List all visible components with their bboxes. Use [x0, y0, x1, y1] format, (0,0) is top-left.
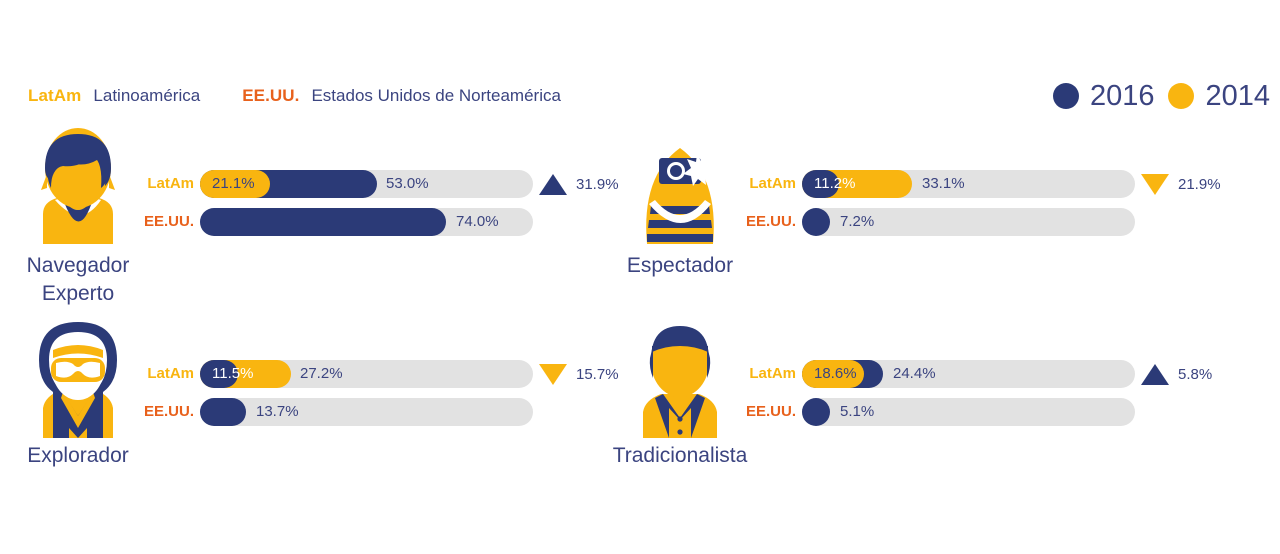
bar-row-key-usa: EE.UU. — [738, 398, 796, 426]
bar-label-2016: 11.2% — [814, 170, 855, 198]
bar-label-2016: 74.0% — [456, 208, 499, 236]
bar-track: 21.1% 53.0% — [200, 170, 533, 198]
persona-name: Tradicionalista — [602, 442, 758, 470]
bar-row-key-latam: LatAm — [136, 170, 194, 198]
tradicionalista-icon — [625, 316, 735, 438]
bar-track: 7.2% — [802, 208, 1135, 236]
bar-row-key-usa: EE.UU. — [136, 208, 194, 236]
circle-navy-icon — [1053, 83, 1079, 109]
delta-value: 5.8% — [1178, 366, 1212, 383]
triangle-down-icon — [539, 364, 567, 385]
bar-label-2014: 18.6% — [814, 360, 857, 388]
bar-row-key-latam: LatAm — [738, 170, 796, 198]
bar-track: 74.0% — [200, 208, 533, 236]
bar-row-key-usa: EE.UU. — [136, 398, 194, 426]
delta-value: 15.7% — [576, 366, 619, 383]
bar-track: 11.5% 27.2% — [200, 360, 533, 388]
legend-year-2014: 2014 — [1168, 82, 1270, 111]
delta-indicator: 15.7% — [539, 360, 619, 388]
bar-track: 18.6% 24.4% — [802, 360, 1135, 388]
delta-value: 21.9% — [1178, 176, 1221, 193]
bar-label-2016: 13.7% — [256, 398, 299, 426]
circle-gold-icon — [1168, 83, 1194, 109]
bar-track: 13.7% — [200, 398, 533, 426]
legend-regions: LatAm Latinoamérica EE.UU. Estados Unido… — [14, 72, 561, 120]
legend-key-usa: EE.UU. — [242, 86, 299, 106]
legend-key-latam: LatAm — [28, 86, 81, 106]
bar-label-2014: 21.1% — [212, 170, 255, 198]
legend-value-usa: Estados Unidos de Norteamérica — [311, 86, 560, 106]
explorador-icon — [23, 316, 133, 438]
bar-fill-2016 — [200, 398, 246, 426]
bar-track: 5.1% — [802, 398, 1135, 426]
espectador-icon — [625, 126, 735, 244]
persona-name: Explorador — [0, 442, 156, 470]
bar-row-key-usa: EE.UU. — [738, 208, 796, 236]
triangle-up-icon — [1141, 364, 1169, 385]
bar-label-2014: 27.2% — [300, 360, 343, 388]
bar-label-2016: 5.1% — [840, 398, 874, 426]
legend: LatAm Latinoamérica EE.UU. Estados Unido… — [0, 72, 1280, 120]
bar-fill-2016 — [200, 208, 446, 236]
legend-year-2016: 2016 — [1053, 82, 1155, 111]
bar-label-2016: 53.0% — [386, 170, 429, 198]
legend-years: 2016 2014 — [1053, 72, 1270, 120]
legend-year-2016-label: 2016 — [1090, 82, 1155, 111]
bar-fill-2016 — [802, 398, 830, 426]
delta-indicator: 21.9% — [1141, 170, 1221, 198]
bar-label-2016: 11.5% — [212, 360, 253, 388]
bar-track: 11.2% 33.1% — [802, 170, 1135, 198]
delta-indicator: 31.9% — [539, 170, 619, 198]
triangle-up-icon — [539, 174, 567, 195]
legend-year-2014-label: 2014 — [1205, 82, 1270, 111]
bar-label-2014: 33.1% — [922, 170, 965, 198]
bar-label-2016: 7.2% — [840, 208, 874, 236]
bar-row-key-latam: LatAm — [136, 360, 194, 388]
persona-name: Navegador Experto — [0, 252, 156, 308]
bar-fill-2016 — [802, 208, 830, 236]
triangle-down-icon — [1141, 174, 1169, 195]
delta-indicator: 5.8% — [1141, 360, 1212, 388]
navegador-experto-icon — [23, 126, 133, 244]
bar-row-key-latam: LatAm — [738, 360, 796, 388]
bar-label-2016: 24.4% — [893, 360, 936, 388]
legend-value-latam: Latinoamérica — [93, 86, 200, 106]
persona-name: Espectador — [602, 252, 758, 280]
delta-value: 31.9% — [576, 176, 619, 193]
